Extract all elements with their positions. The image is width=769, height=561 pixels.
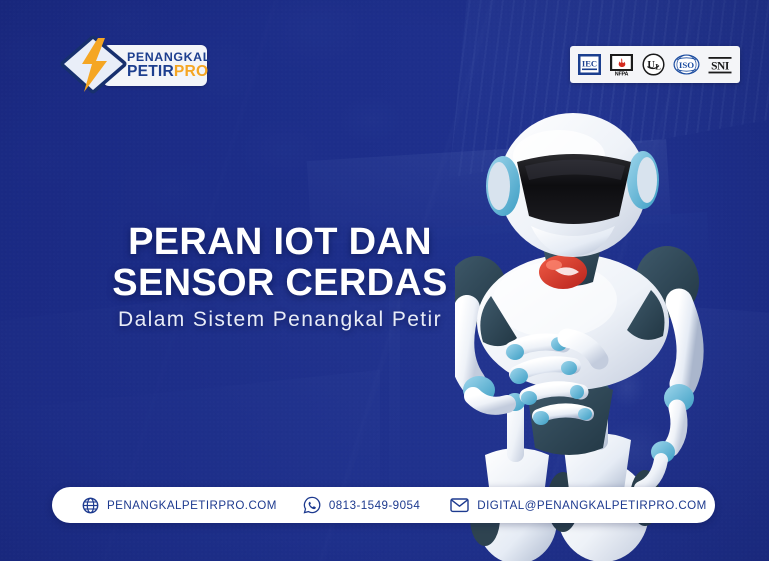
contact-email-label: DIGITAL@PENANGKALPETIRPRO.COM [477, 499, 706, 512]
contact-whatsapp[interactable]: 0813-1549-9054 [277, 487, 420, 523]
contact-whatsapp-label: 0813-1549-9054 [329, 499, 420, 512]
svg-text:ISO: ISO [679, 60, 694, 70]
logo-pro-text: PRO [174, 63, 208, 80]
svg-text:NFPA: NFPA [615, 71, 629, 77]
logo-line-two: PETIRPRO [127, 64, 207, 80]
contact-website[interactable]: PENANGKALPETIRPRO.COM [52, 487, 277, 523]
svg-text:SNI: SNI [711, 61, 730, 73]
sni-badge-icon: SNI [707, 52, 733, 77]
nfpa-badge-icon: NFPA [609, 52, 634, 77]
contact-email[interactable]: DIGITAL@PENANGKALPETIRPRO.COM [420, 487, 706, 523]
contact-bar: PENANGKALPETIRPRO.COM 0813-1549-9054 DIG… [52, 487, 715, 523]
certification-badges: IEC NFPA U L [570, 46, 740, 83]
envelope-icon [450, 497, 469, 513]
logo-petir-text: PETIR [127, 63, 174, 80]
lightning-bolt-diamond-icon [59, 36, 131, 94]
svg-text:IEC: IEC [582, 58, 597, 68]
ul-badge-icon: U L [641, 52, 666, 77]
brand-logo[interactable]: PENANGKAL PETIRPRO [59, 36, 207, 94]
promo-banner: PENANGKAL PETIRPRO IEC NFPA [0, 0, 769, 561]
iso-badge-icon: ISO [673, 52, 700, 77]
iec-badge-icon: IEC [577, 52, 602, 77]
svg-text:U: U [647, 60, 655, 71]
whatsapp-icon [303, 496, 321, 514]
globe-icon [82, 497, 99, 514]
contact-website-label: PENANGKALPETIRPRO.COM [107, 499, 277, 512]
